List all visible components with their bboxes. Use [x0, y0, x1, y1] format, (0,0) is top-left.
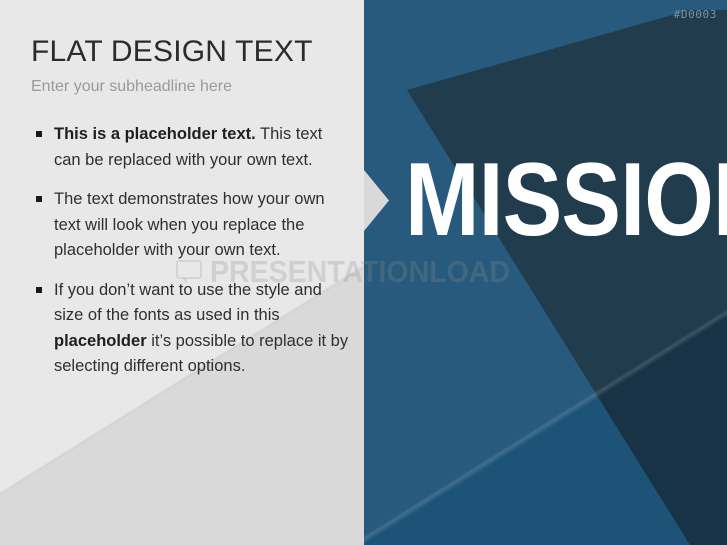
bullet-list: This is a placeholder text. This text ca… — [33, 122, 353, 380]
bullet-emphasis-text: placeholder — [54, 332, 147, 350]
bullet-body-text: The text demonstrates how your own text … — [54, 190, 325, 259]
square-bullet-icon — [36, 196, 42, 202]
headline-mission: MISSION — [405, 148, 727, 252]
headline-long-shadow — [364, 0, 727, 545]
square-bullet-icon — [36, 131, 42, 137]
list-item: If you don’t want to use the style and s… — [33, 278, 353, 380]
slide-canvas: FLAT DESIGN TEXT Enter your subheadline … — [0, 0, 727, 545]
list-item: This is a placeholder text. This text ca… — [33, 122, 353, 173]
diagonal-streak-blue — [364, 0, 727, 545]
right-accent-panel — [364, 0, 727, 545]
bullet-body-text: If you don’t want to use the style and s… — [54, 281, 322, 325]
list-item: The text demonstrates how your own text … — [33, 187, 353, 264]
page-title: FLAT DESIGN TEXT — [31, 35, 313, 69]
square-bullet-icon — [36, 287, 42, 293]
page-subtitle: Enter your subheadline here — [31, 77, 232, 97]
bullet-lead-text: This is a placeholder text. — [54, 125, 256, 143]
slide-id-label: #D0003 — [674, 8, 717, 21]
